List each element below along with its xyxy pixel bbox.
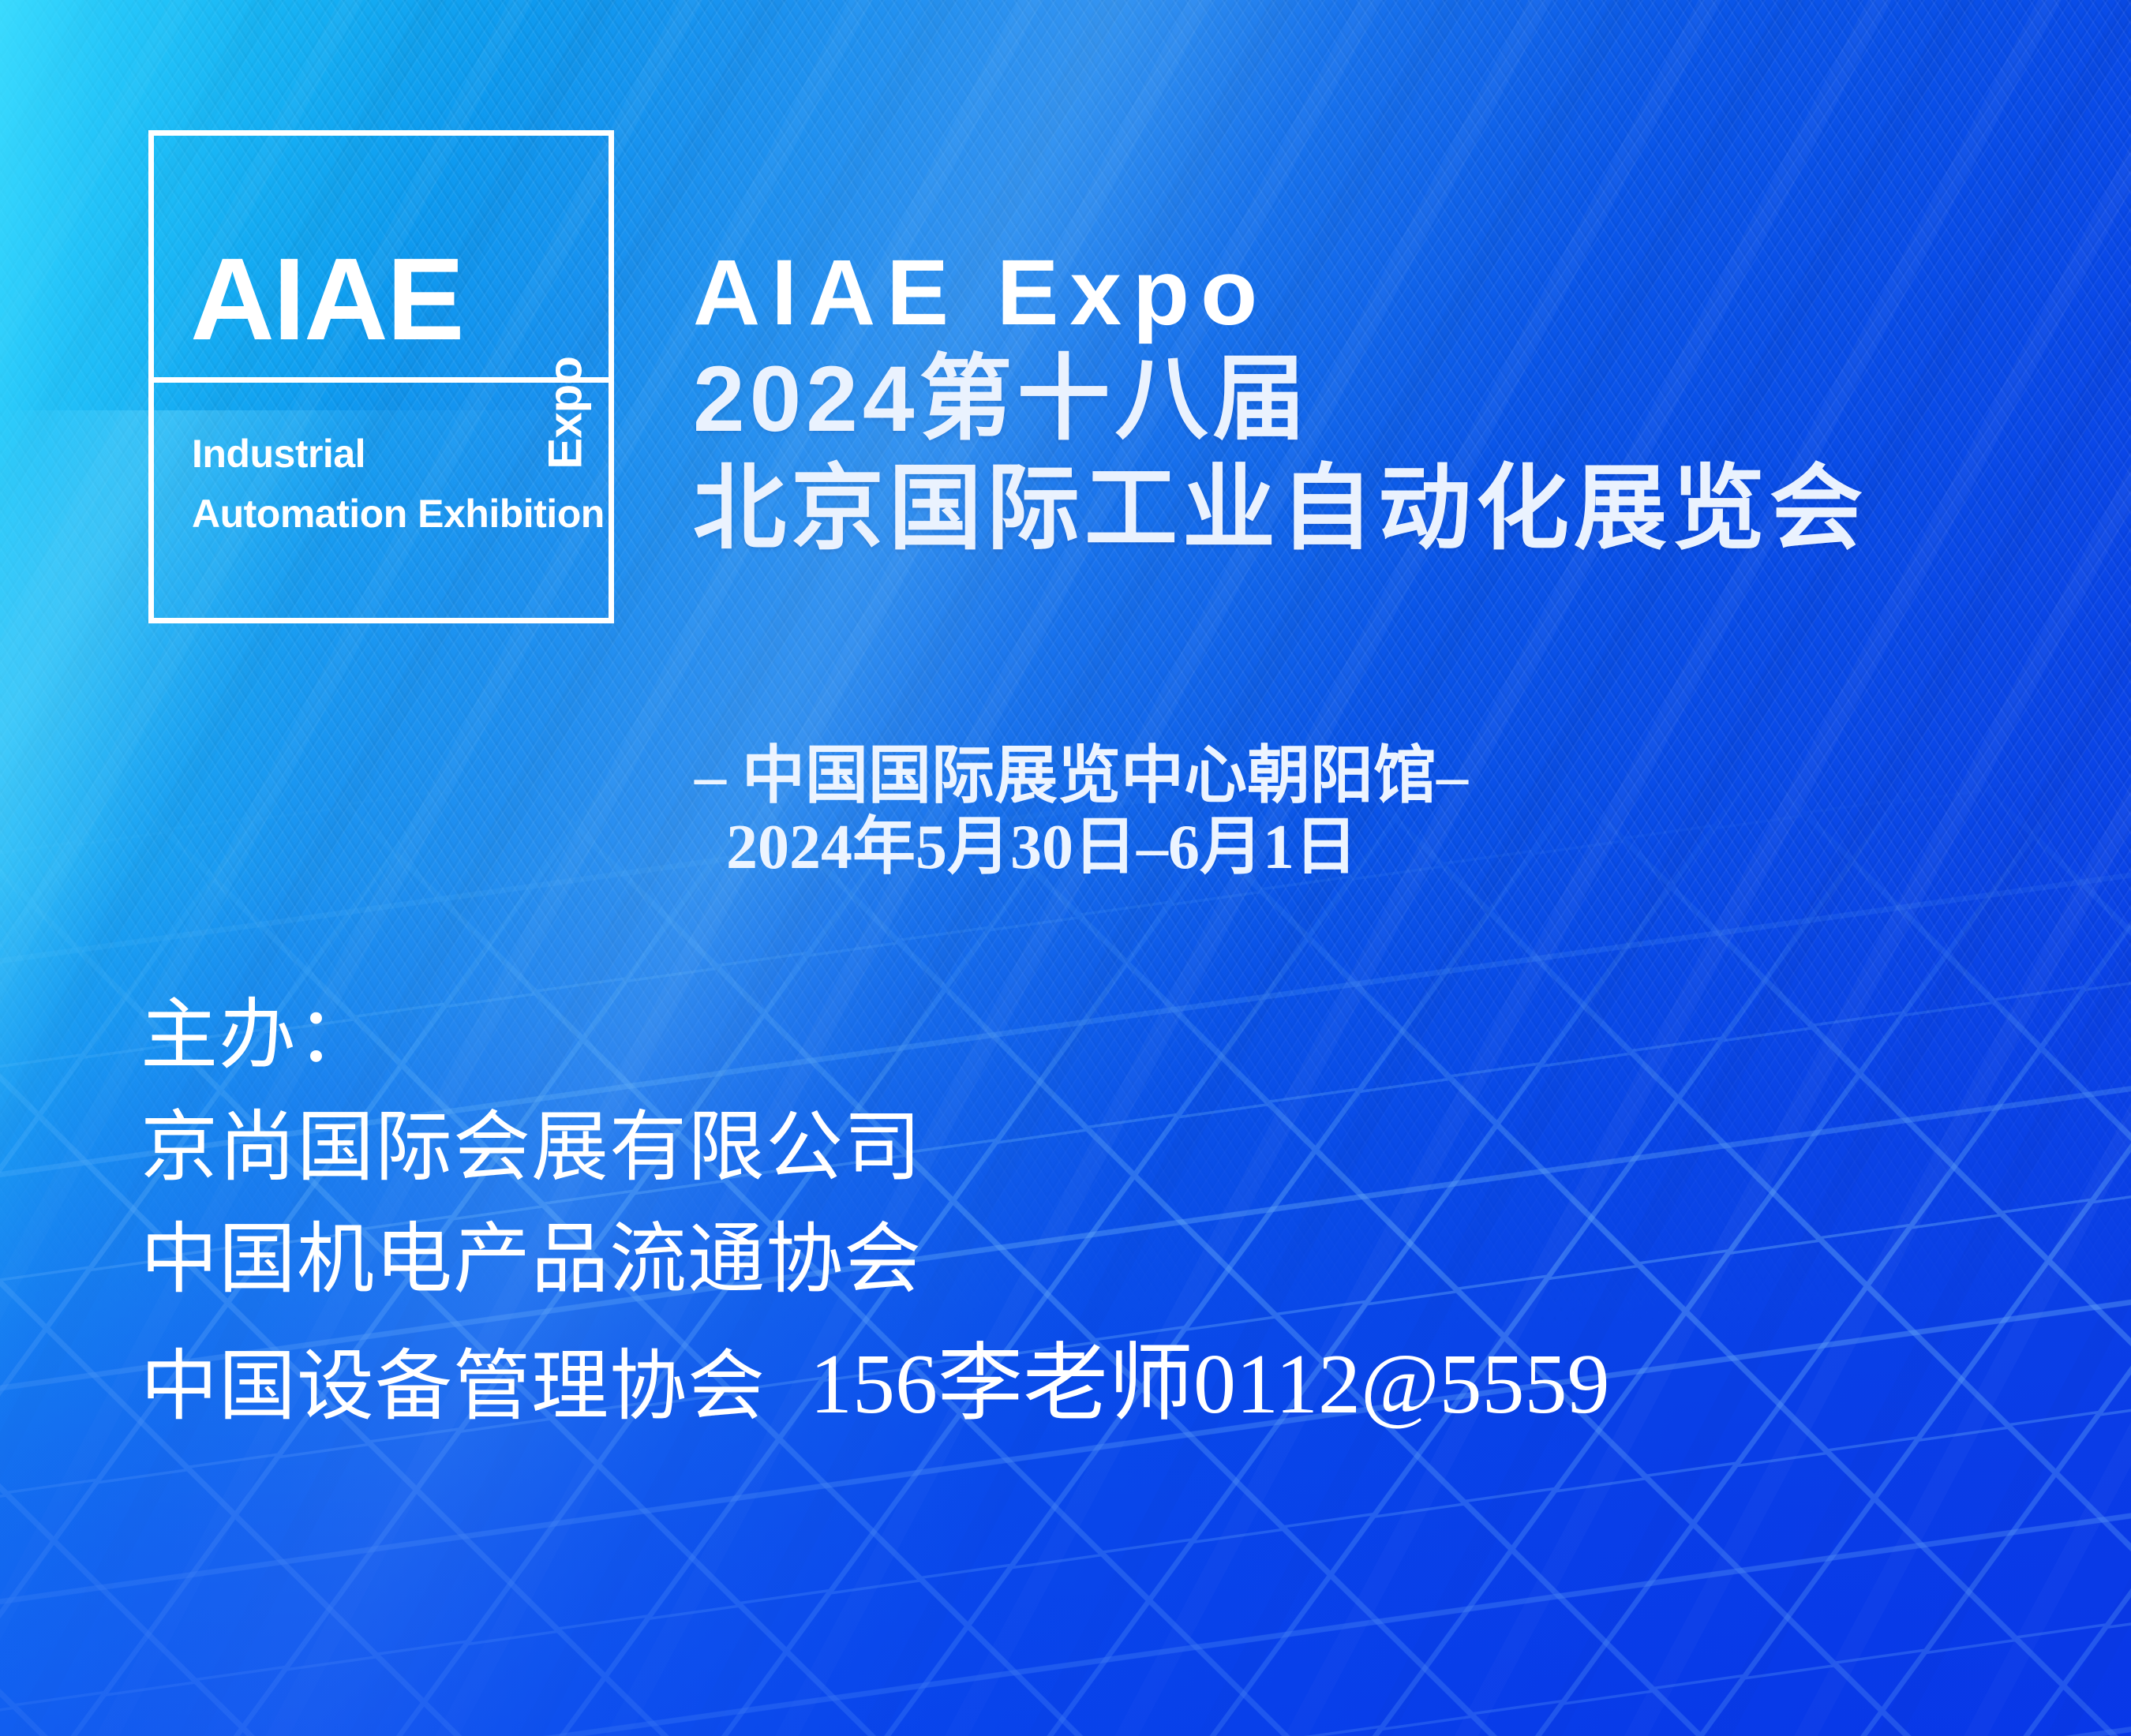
event-details-block: – 中国国际展览中心朝阳馆– 2024年5月30日–6月1日 — [695, 742, 1468, 883]
logo-top-panel: AIAE Expo — [154, 136, 609, 377]
logo-subtitle-line-2: Automation Exhibition — [192, 484, 609, 544]
poster-root: AIAE Expo Industrial Automation Exhibiti… — [0, 0, 2131, 1736]
headline-chinese-line-1: 2024第十八届 — [693, 345, 1867, 455]
headline-english: AIAE Expo — [693, 241, 1867, 345]
event-date: 2024年5月30日–6月1日 — [726, 813, 1468, 884]
headline-chinese-line-2: 北京国际工业自动化展览会 — [693, 455, 1867, 564]
contact-phone: 156李老师0112@5559 — [810, 1315, 1609, 1438]
organizer-item: 中国机电产品流通协会 — [140, 1203, 1609, 1315]
organizers-block: 主办： 京尚国际会展有限公司 中国机电产品流通协会 中国设备管理协会 156李老… — [140, 978, 1609, 1442]
event-venue: – 中国国际展览中心朝阳馆– — [695, 742, 1468, 813]
logo-bottom-panel: Industrial Automation Exhibition — [154, 383, 609, 618]
organizer-item: 中国设备管理协会 — [140, 1330, 766, 1442]
headline-block: AIAE Expo 2024第十八届 北京国际工业自动化展览会 — [693, 241, 1867, 565]
organizer-item: 京尚国际会展有限公司 — [140, 1091, 1609, 1203]
aiae-logo-mark: AIAE Expo Industrial Automation Exhibiti… — [148, 130, 614, 623]
logo-divider — [154, 377, 609, 383]
organizer-contact-row: 中国设备管理协会 156李老师0112@5559 — [140, 1315, 1609, 1442]
logo-subtitle-line-1: Industrial — [192, 424, 609, 484]
logo-wordmark: AIAE — [190, 241, 463, 358]
organizers-label: 主办： — [140, 978, 1609, 1091]
